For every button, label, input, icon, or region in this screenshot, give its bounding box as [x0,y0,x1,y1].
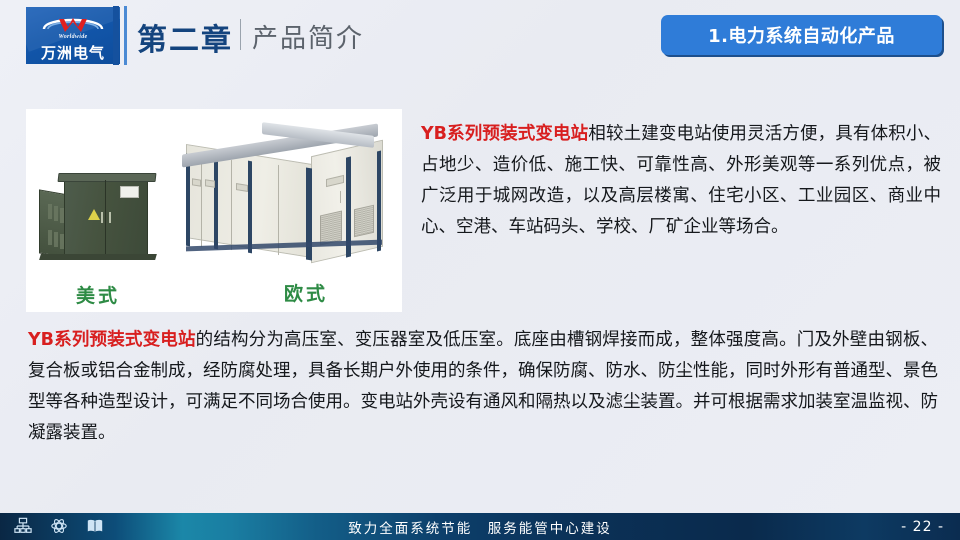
worldwide-w-mark [26,10,120,36]
warning-triangle-icon [88,209,100,220]
frame-post [248,161,252,254]
intro-keyword: YB系列预装式变电站 [421,124,588,144]
european-substation-image [174,121,389,286]
louver-vent [54,232,58,247]
logo-chinese-text: 万洲电气 [26,42,120,63]
product-photo-panel: 美式 欧式 [26,109,402,312]
door-seam [201,157,202,247]
door-label [205,179,215,188]
footer-slogan: 致力全面系统节能 服务能管中心建设 [0,513,960,540]
photo-caption-american: 美式 [76,281,120,308]
substation-roof [58,173,157,182]
detail-paragraph: YB系列预装式变电站的结构分为高压室、变压器室及低压室。底座由槽钢焊接而成，整体… [28,325,938,449]
door-seam [105,180,106,254]
topic-badge-label: 1.电力系统自动化产品 [708,22,895,48]
frame-post [214,157,218,250]
louver-vent [54,206,58,221]
frame-post [186,154,190,247]
chapter-title: 第二章 [137,15,233,59]
header-divider-thin [124,6,127,65]
american-substation-image [36,164,161,274]
slide-header: Worldwide 万洲电气 第二章 产品简介 1.电力系统自动化产品 [0,0,960,78]
louver-vent [48,204,52,219]
louver-vent [48,230,52,245]
slide-footer: 致力全面系统节能 服务能管中心建设 - 22 - [0,513,960,540]
door-seam [278,165,279,255]
slide-canvas: Worldwide 万洲电气 第二章 产品简介 1.电力系统自动化产品 [0,0,960,540]
topic-badge: 1.电力系统自动化产品 [661,15,942,55]
door-handle [109,212,111,223]
intro-paragraph: YB系列预装式变电站相较土建变电站使用灵活方便，具有体积小、占地少、造价低、施工… [421,119,941,243]
frame-post-end [377,151,381,252]
door-handle [340,191,341,203]
door-seam [231,160,232,250]
company-logo: Worldwide 万洲电气 [26,7,120,64]
substation-base [39,254,157,260]
page-number: - 22 - [901,513,944,540]
header-divider-thick [113,6,119,65]
nameplate-label [120,186,139,198]
door-label [192,178,201,186]
logo-english-text: Worldwide [26,34,120,40]
door-handle [101,212,103,223]
photo-caption-european: 欧式 [284,279,328,306]
detail-keyword: YB系列预装式变电站 [28,330,196,350]
section-title: 产品简介 [252,18,364,55]
ventilation-grille [354,205,374,238]
title-separator [240,19,241,50]
